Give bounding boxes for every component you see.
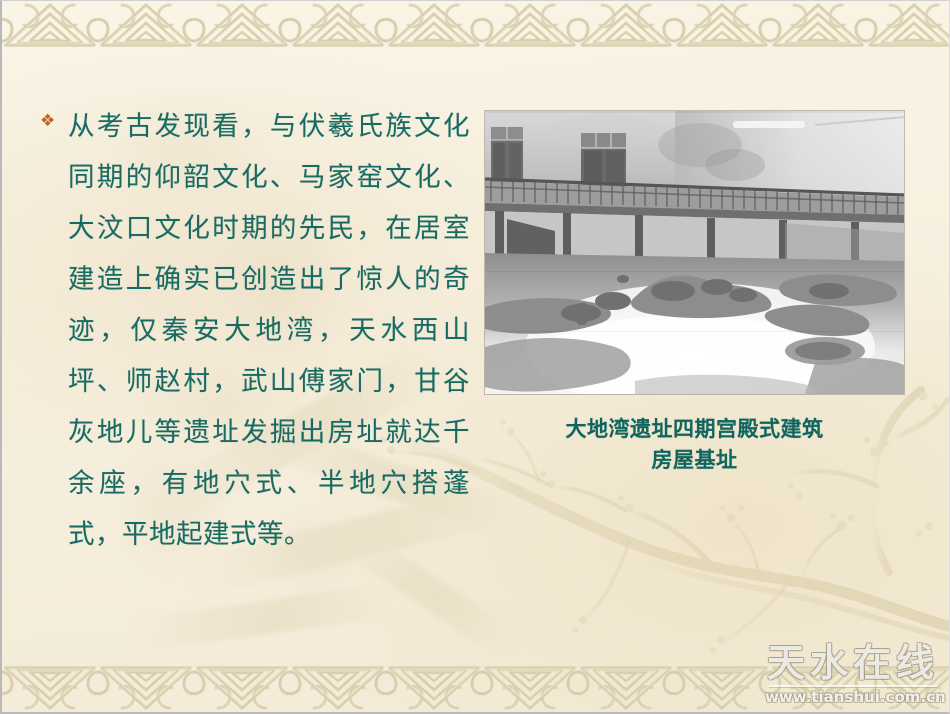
- slide: ❖ 从考古发现看，与伏羲氏族文化同期的仰韶文化、马家窑文化、大汶口文化时期的先民…: [0, 0, 950, 714]
- figure-image: [485, 111, 904, 394]
- content-bullet-item: ❖ 从考古发现看，与伏羲氏族文化同期的仰韶文化、马家窑文化、大汶口文化时期的先民…: [40, 101, 470, 560]
- figure-caption-line1: 大地湾遗址四期宫殿式建筑: [485, 413, 904, 444]
- figure-caption-line2: 房屋基址: [485, 444, 904, 475]
- figure-caption: 大地湾遗址四期宫殿式建筑 房屋基址: [485, 413, 904, 475]
- archaeology-site-photo: [485, 111, 904, 394]
- bullet-marker-icon: ❖: [40, 113, 68, 130]
- body-paragraph: 从考古发现看，与伏羲氏族文化同期的仰韶文化、马家窑文化、大汶口文化时期的先民，在…: [68, 101, 470, 560]
